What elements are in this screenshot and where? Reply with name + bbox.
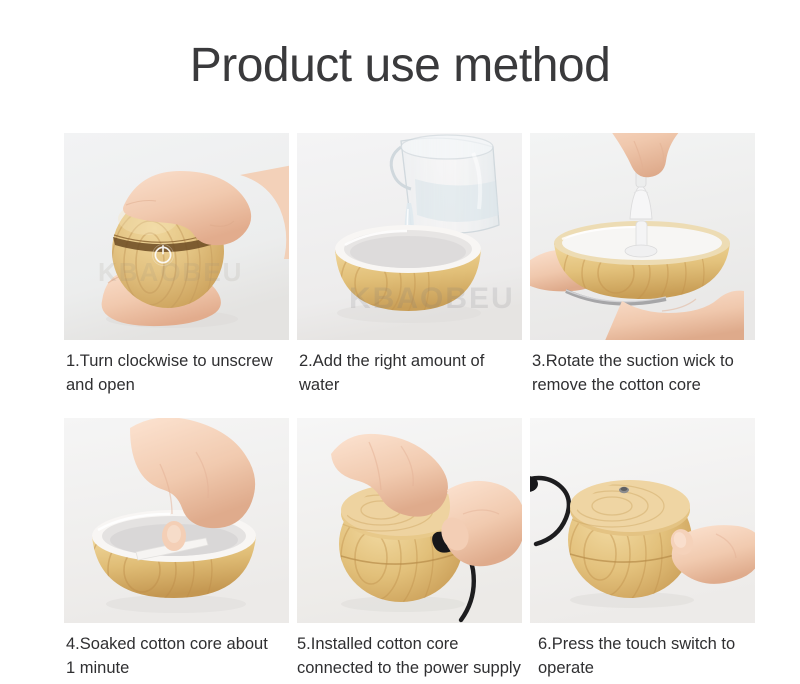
product-instruction-page: Product use method <box>0 0 800 684</box>
step-card-6: 6.Press the touch switch to operate <box>530 418 755 680</box>
step-6-press-touch-switch-photo <box>530 418 755 623</box>
step-card-3: 3.Rotate the suction wick to remove the … <box>530 133 755 397</box>
step-2-illustration <box>297 133 522 340</box>
step-card-4: 4.Soaked cotton core about 1 minute <box>64 418 289 680</box>
page-title: Product use method <box>0 38 800 93</box>
step-6-illustration <box>530 418 755 623</box>
step-3-rotate-suction-wick-photo <box>530 133 755 340</box>
steps-grid: KBAOBEU 1.Turn clockwise to unscrew and … <box>64 133 756 680</box>
step-1-unscrew-lid-photo: KBAOBEU <box>64 133 289 340</box>
step-2-caption: 2.Add the right amount of water <box>297 349 522 397</box>
step-4-soak-cotton-core-photo <box>64 418 289 623</box>
step-1-caption: 1.Turn clockwise to unscrew and open <box>64 349 289 397</box>
step-card-2: KBAOBEU 2.Add the right amount of water <box>297 133 522 397</box>
step-3-illustration <box>530 133 755 340</box>
step-5-connect-power-photo <box>297 418 522 623</box>
steps-row-1: KBAOBEU 1.Turn clockwise to unscrew and … <box>64 133 756 397</box>
step-6-caption: 6.Press the touch switch to operate <box>530 632 755 680</box>
step-5-illustration <box>297 418 522 623</box>
steps-row-2: 4.Soaked cotton core about 1 minute <box>64 418 756 680</box>
step-5-caption: 5.Installed cotton core connected to the… <box>297 632 522 680</box>
step-4-caption: 4.Soaked cotton core about 1 minute <box>64 632 289 680</box>
step-3-caption: 3.Rotate the suction wick to remove the … <box>530 349 755 397</box>
step-2-add-water-photo: KBAOBEU <box>297 133 522 340</box>
step-1-illustration <box>64 133 289 340</box>
step-card-5: 5.Installed cotton core connected to the… <box>297 418 522 680</box>
step-card-1: KBAOBEU 1.Turn clockwise to unscrew and … <box>64 133 289 397</box>
step-4-illustration <box>64 418 289 623</box>
